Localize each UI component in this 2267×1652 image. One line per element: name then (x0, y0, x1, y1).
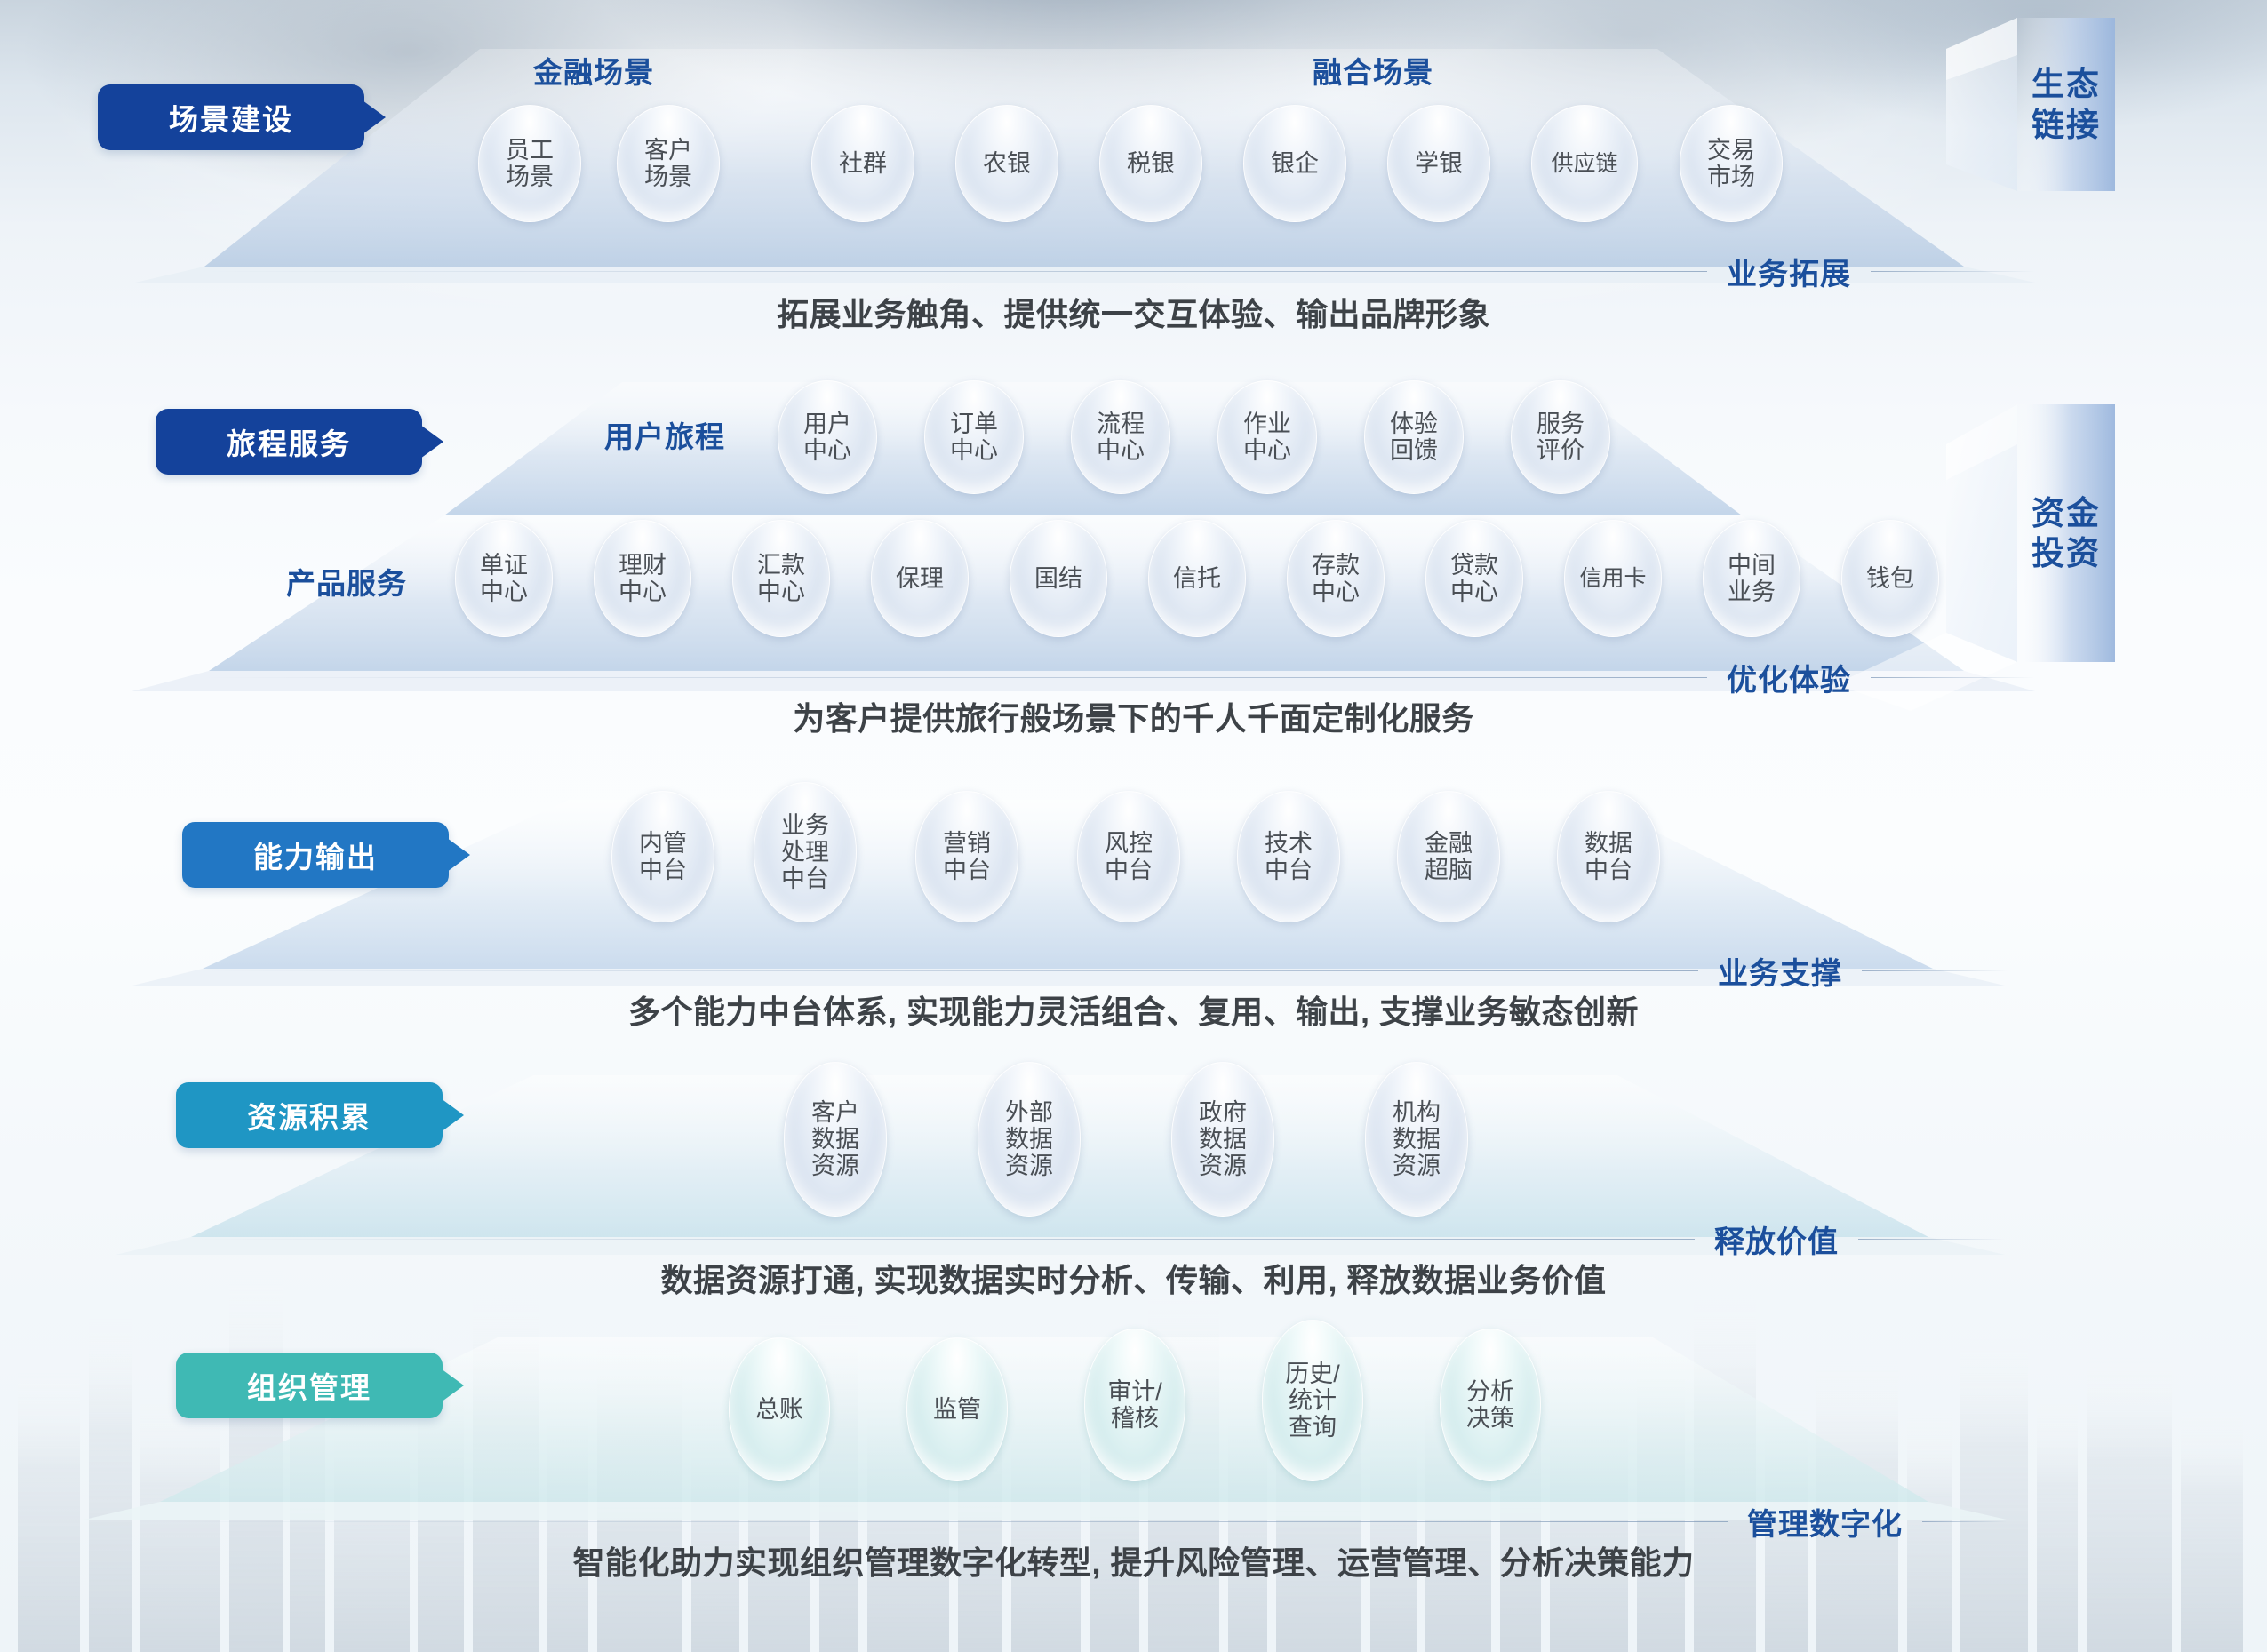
node-label-line: 风控 (1105, 830, 1153, 857)
ribbon-line-2: 投资 (2032, 533, 2101, 573)
node-factoring[interactable]: 保理 (871, 520, 969, 637)
node-label: 服务评价 (1537, 411, 1585, 464)
layer-tag-organization-label: 组织管理 (247, 1364, 371, 1407)
node-label-line: 场景 (644, 164, 692, 190)
group-title-fusion-scene: 融合场景 (1313, 49, 1433, 92)
node-label: 业务处理中台 (781, 812, 829, 893)
node-label-line: 审计/ (1107, 1378, 1162, 1405)
node-tax-bank[interactable]: 税银 (1099, 105, 1202, 222)
node-agri-bank[interactable]: 农银 (955, 105, 1058, 222)
node-label-line: 评价 (1537, 437, 1585, 464)
node-label: 社群 (839, 150, 887, 177)
node-label: 理财中心 (619, 552, 667, 605)
rule-line-right (1858, 1239, 2005, 1240)
node-label-line: 业务 (1728, 579, 1776, 605)
rule-release-value: 释放价值 (192, 1221, 2005, 1257)
node-label-line: 业务 (781, 812, 829, 839)
node-label-line: 资源 (811, 1153, 859, 1179)
caption-scene: 拓展业务触角、提供统一交互体验、输出品牌形象 (0, 289, 2267, 335)
node-analysis-decision[interactable]: 分析决策 (1440, 1329, 1541, 1481)
node-label-line: 作业 (1243, 411, 1291, 437)
diagram-canvas: 场景建设 金融场景 融合场景 员工场景 客户场景 社群 农银 税银 银企 学银 … (0, 0, 2267, 1652)
node-label: 客户场景 (644, 137, 692, 190)
node-experience-feedback[interactable]: 体验回馈 (1364, 380, 1464, 494)
node-risk-control-platform[interactable]: 风控中台 (1077, 791, 1180, 922)
node-label-line: 贷款 (1450, 552, 1498, 579)
node-label: 信托 (1173, 565, 1221, 592)
node-label: 金融超脑 (1425, 830, 1473, 883)
layer-tag-capability[interactable]: 能力输出 (182, 822, 449, 888)
layer-tag-organization[interactable]: 组织管理 (176, 1353, 443, 1418)
layer-tag-journey-label: 旅程服务 (227, 420, 351, 463)
node-label: 中间业务 (1728, 552, 1776, 605)
node-label-line: 稽核 (1107, 1405, 1162, 1432)
node-process-center[interactable]: 流程中心 (1071, 380, 1170, 494)
node-label: 流程中心 (1097, 411, 1145, 464)
node-label: 汇款中心 (757, 552, 805, 605)
node-label: 历史/统计查询 (1285, 1361, 1340, 1441)
node-label-line: 客户 (644, 137, 692, 164)
layer-tag-scene[interactable]: 场景建设 (98, 84, 364, 150)
node-label-line: 场景 (506, 164, 554, 190)
node-label-line: 中心 (619, 579, 667, 605)
node-label-line: 订单 (950, 411, 998, 437)
node-label: 钱包 (1866, 565, 1914, 592)
node-label-line: 外部 (1005, 1099, 1053, 1126)
node-wallet[interactable]: 钱包 (1841, 520, 1939, 637)
node-label-line: 中心 (1243, 437, 1291, 464)
rule-line-right (1871, 271, 2035, 272)
node-marketing-platform[interactable]: 营销中台 (915, 791, 1018, 922)
node-label-line: 技术 (1265, 830, 1313, 857)
node-label-line: 中心 (950, 437, 998, 464)
caption-capability: 多个能力中台体系, 实现能力灵活组合、复用、输出, 支撑业务敏态创新 (0, 986, 2267, 1033)
node-label: 交易市场 (1707, 137, 1755, 190)
node-intermediary-business[interactable]: 中间业务 (1703, 520, 1800, 637)
node-label-line: 数据 (811, 1126, 859, 1153)
node-label-line: 用户 (803, 411, 851, 437)
node-label: 技术中台 (1265, 830, 1313, 883)
node-label: 分析决策 (1466, 1378, 1514, 1432)
node-label: 用户中心 (803, 411, 851, 464)
node-label: 农银 (983, 150, 1031, 177)
node-supervision[interactable]: 监管 (906, 1337, 1008, 1481)
node-label-line: 客户 (811, 1099, 859, 1126)
ribbon-fund-investment-text: 资金 投资 (2017, 404, 2115, 662)
node-user-center[interactable]: 用户中心 (778, 380, 877, 494)
node-technology-platform[interactable]: 技术中台 (1237, 791, 1340, 922)
node-label-line: 资源 (1005, 1153, 1053, 1179)
node-label-line: 超脑 (1425, 857, 1473, 883)
node-trust[interactable]: 信托 (1148, 520, 1246, 637)
node-label-line: 中心 (1450, 579, 1498, 605)
node-label-line: 市场 (1707, 164, 1755, 190)
ribbon-eco-link-text: 生态 链接 (2017, 18, 2115, 191)
rule-line-right (1871, 677, 2035, 678)
node-label-line: 中台 (943, 857, 991, 883)
rule-optimize-experience: 优化体验 (201, 659, 2035, 695)
layer-tag-journey[interactable]: 旅程服务 (156, 409, 422, 475)
node-label: 供应链 (1551, 151, 1617, 176)
node-wealth-center[interactable]: 理财中心 (594, 520, 691, 637)
node-label: 国结 (1034, 565, 1082, 592)
node-label: 营销中台 (943, 830, 991, 883)
layer-tag-resource[interactable]: 资源积累 (176, 1082, 443, 1148)
node-label: 存款中心 (1312, 552, 1360, 605)
ribbon-line-1: 生态 (2032, 64, 2101, 104)
node-label: 作业中心 (1243, 411, 1291, 464)
caption-organization: 智能化助力实现组织管理数字化转型, 提升风险管理、运营管理、分析决策能力 (0, 1537, 2267, 1584)
node-operation-center[interactable]: 作业中心 (1217, 380, 1317, 494)
node-label: 内管中台 (639, 830, 687, 883)
node-label-line: 决策 (1466, 1405, 1514, 1432)
node-label-line: 数据 (1585, 830, 1632, 857)
node-label-line: 内管 (639, 830, 687, 857)
node-supply-chain[interactable]: 供应链 (1531, 105, 1638, 222)
group-title-financial-scene: 金融场景 (533, 49, 654, 92)
node-label-line: 数据 (1393, 1126, 1441, 1153)
node-label-line: 中心 (757, 579, 805, 605)
node-label-line: 资源 (1393, 1153, 1441, 1179)
layer-tag-capability-label: 能力输出 (253, 834, 378, 876)
node-label: 学银 (1415, 150, 1463, 177)
node-label-line: 机构 (1393, 1099, 1441, 1126)
node-label: 税银 (1127, 150, 1175, 177)
rule-line-left (201, 970, 1698, 971)
node-label-line: 中台 (639, 857, 687, 883)
node-label-line: 数据 (1199, 1126, 1247, 1153)
node-label-line: 单证 (480, 552, 528, 579)
node-customer-scene[interactable]: 客户场景 (617, 105, 720, 222)
node-financial-brain[interactable]: 金融超脑 (1397, 791, 1500, 922)
node-trading-market[interactable]: 交易市场 (1680, 105, 1783, 222)
node-deposit-center[interactable]: 存款中心 (1287, 520, 1385, 637)
node-label-line: 中心 (1097, 437, 1145, 464)
node-label-line: 统计 (1285, 1387, 1340, 1414)
node-label: 银企 (1271, 150, 1319, 177)
node-label-line: 交易 (1707, 137, 1755, 164)
node-external-data-resource[interactable]: 外部数据资源 (978, 1062, 1081, 1217)
group-title-user-journey: 用户旅程 (604, 413, 725, 456)
node-data-platform[interactable]: 数据中台 (1557, 791, 1660, 922)
node-label-line: 历史/ (1285, 1361, 1340, 1387)
node-label: 总账 (755, 1396, 803, 1423)
rule-management-digitalization: 管理数字化 (160, 1504, 2007, 1539)
node-label: 风控中台 (1105, 830, 1153, 883)
group-title-product-service: 产品服务 (286, 560, 407, 603)
node-label-line: 体验 (1390, 411, 1438, 437)
rule-line-left (201, 677, 1707, 678)
node-label-line: 流程 (1097, 411, 1145, 437)
node-credit-card[interactable]: 信用卡 (1564, 520, 1662, 637)
node-label: 数据中台 (1585, 830, 1632, 883)
ribbon-fund-investment: 资金 投资 (2017, 404, 2115, 662)
node-label-line: 中台 (1265, 857, 1313, 883)
layer-tag-scene-label: 场景建设 (169, 96, 293, 139)
caption-journey: 为客户提供旅行般场景下的千人千面定制化服务 (0, 693, 2267, 739)
node-label-line: 中台 (781, 866, 829, 892)
rule-label-business-expansion: 业务拓展 (1707, 250, 1871, 293)
node-label-line: 政府 (1199, 1099, 1247, 1126)
node-customer-data-resource[interactable]: 客户数据资源 (784, 1062, 887, 1217)
node-label: 监管 (933, 1396, 981, 1423)
node-employee-scene[interactable]: 员工场景 (478, 105, 581, 222)
node-label-line: 存款 (1312, 552, 1360, 579)
node-label: 保理 (896, 565, 944, 592)
rule-business-support: 业务支撑 (201, 953, 2008, 988)
node-loan-center[interactable]: 贷款中心 (1425, 520, 1523, 637)
node-order-center[interactable]: 订单中心 (924, 380, 1024, 494)
node-label: 贷款中心 (1450, 552, 1498, 605)
node-label-line: 员工 (506, 137, 554, 164)
rule-business-expansion: 业务拓展 (204, 253, 2035, 289)
caption-resource: 数据资源打通, 实现数据实时分析、传输、利用, 释放数据业务价值 (0, 1255, 2267, 1301)
node-label-line: 中心 (480, 579, 528, 605)
node-label-line: 中心 (1312, 579, 1360, 605)
node-label: 外部数据资源 (1005, 1099, 1053, 1180)
rule-line-right (1922, 1521, 2007, 1522)
node-label: 体验回馈 (1390, 411, 1438, 464)
ribbon-line-1: 资金 (2032, 493, 2101, 533)
layer-tag-resource-label: 资源积累 (247, 1094, 371, 1137)
ribbon-line-2: 链接 (2032, 105, 2101, 145)
node-label-line: 中间 (1728, 552, 1776, 579)
node-community[interactable]: 社群 (811, 105, 914, 222)
node-label-line: 中心 (803, 437, 851, 464)
node-business-processing-platform[interactable]: 业务处理中台 (754, 782, 857, 922)
node-government-data-resource[interactable]: 政府数据资源 (1171, 1062, 1274, 1217)
node-audit-inspection[interactable]: 审计/稽核 (1084, 1329, 1185, 1481)
node-label: 信用卡 (1579, 566, 1646, 591)
node-bank-enterprise[interactable]: 银企 (1243, 105, 1346, 222)
node-label-line: 分析 (1466, 1378, 1514, 1405)
node-label-line: 理财 (619, 552, 667, 579)
node-label-line: 回馈 (1390, 437, 1438, 464)
node-international-settlement[interactable]: 国结 (1010, 520, 1107, 637)
node-general-ledger[interactable]: 总账 (729, 1337, 830, 1481)
node-label: 客户数据资源 (811, 1099, 859, 1180)
node-service-evaluation[interactable]: 服务评价 (1511, 380, 1610, 494)
rule-line-left (192, 1239, 1695, 1240)
node-label: 单证中心 (480, 552, 528, 605)
node-label-line: 查询 (1285, 1414, 1340, 1441)
rule-line-left (160, 1521, 1728, 1522)
rule-line-right (1862, 970, 2008, 971)
node-remittance-center[interactable]: 汇款中心 (732, 520, 830, 637)
node-label-line: 数据 (1005, 1126, 1053, 1153)
node-label: 政府数据资源 (1199, 1099, 1247, 1180)
node-label-line: 处理 (781, 839, 829, 866)
node-label-line: 中台 (1585, 857, 1632, 883)
rule-line-left (204, 271, 1707, 272)
node-label-line: 汇款 (757, 552, 805, 579)
ribbon-eco-link: 生态 链接 (2017, 18, 2115, 191)
node-history-statistics-query[interactable]: 历史/统计查询 (1262, 1320, 1363, 1481)
node-label: 订单中心 (950, 411, 998, 464)
node-label: 员工场景 (506, 137, 554, 190)
node-label: 机构数据资源 (1393, 1099, 1441, 1180)
node-internal-mgmt-platform[interactable]: 内管中台 (611, 791, 714, 922)
node-document-center[interactable]: 单证中心 (455, 520, 553, 637)
node-school-bank[interactable]: 学银 (1387, 105, 1490, 222)
node-label-line: 服务 (1537, 411, 1585, 437)
node-label-line: 营销 (943, 830, 991, 857)
node-label-line: 金融 (1425, 830, 1473, 857)
node-label: 审计/稽核 (1107, 1378, 1162, 1432)
node-institution-data-resource[interactable]: 机构数据资源 (1365, 1062, 1468, 1217)
node-label-line: 资源 (1199, 1153, 1247, 1179)
node-label-line: 中台 (1105, 857, 1153, 883)
